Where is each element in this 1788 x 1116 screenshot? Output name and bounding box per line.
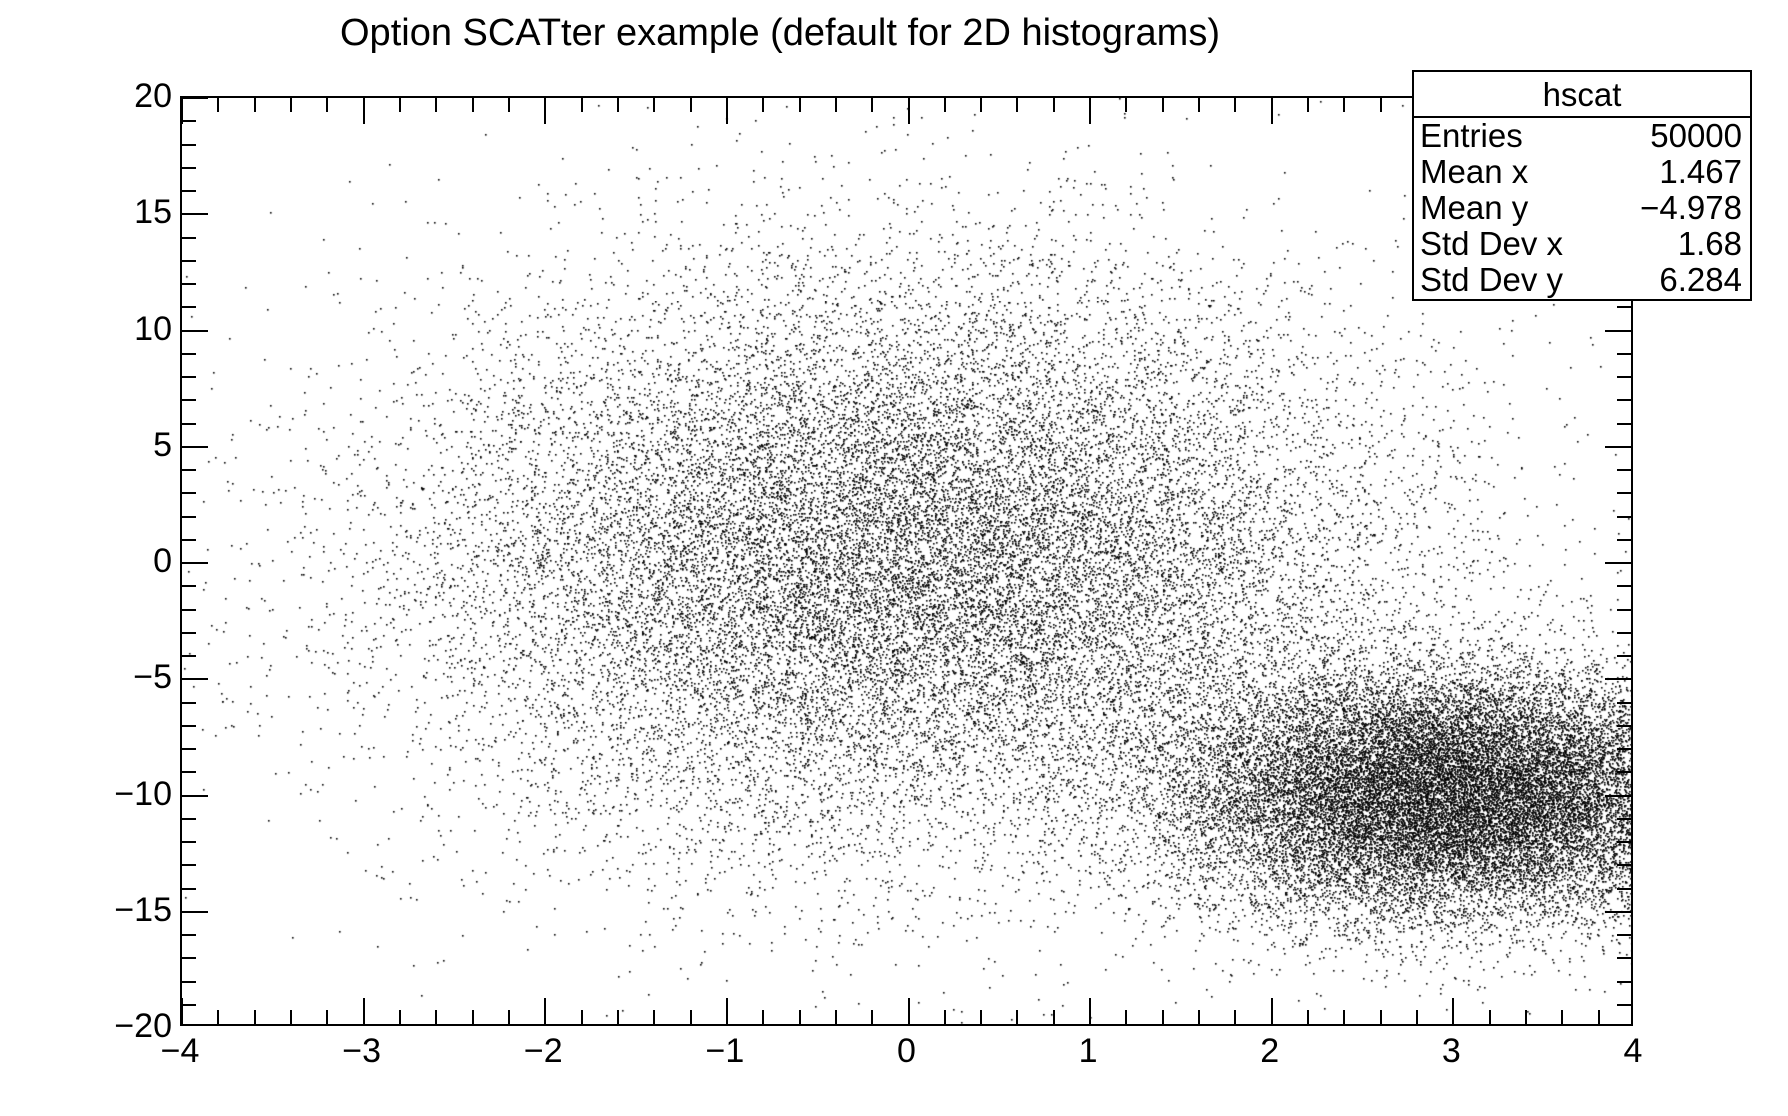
x-axis-minor-tick [290,1010,292,1024]
x-axis-minor-tick [871,1010,873,1024]
statistics-key: Entries [1420,117,1523,155]
x-axis-tick-label: −1 [705,1034,744,1068]
x-axis-minor-tick [472,98,474,112]
y-axis-major-tick [1605,795,1631,797]
y-axis-minor-tick [182,120,196,122]
y-axis-minor-tick [182,934,196,936]
statistics-value: 6.284 [1659,261,1742,299]
statistics-row: Entries50000 [1414,118,1750,154]
y-axis-major-tick [182,97,208,99]
y-axis-minor-tick [182,981,196,983]
y-axis-minor-tick [182,702,196,704]
statistics-value: 1.467 [1659,153,1742,191]
x-axis-minor-tick [690,98,692,112]
statistics-key: Std Dev y [1420,261,1563,299]
y-axis-major-tick [182,678,208,680]
y-axis-minor-tick [1617,585,1631,587]
y-axis-major-tick [182,562,208,564]
x-axis-minor-tick [1561,1010,1563,1024]
statistics-rows: Entries50000Mean x1.467Mean y−4.978Std D… [1414,118,1750,298]
y-axis-minor-tick [182,841,196,843]
x-axis-minor-tick [1162,1010,1164,1024]
y-axis-minor-tick [182,748,196,750]
x-axis-minor-tick [254,1010,256,1024]
x-axis-minor-tick [1125,1010,1127,1024]
x-axis-minor-tick [1125,98,1127,112]
y-axis-minor-tick [182,888,196,890]
y-axis-minor-tick [182,283,196,285]
x-axis-major-tick [1089,998,1091,1024]
y-axis-tick-label: −15 [114,893,172,927]
y-axis-minor-tick [182,260,196,262]
x-axis-minor-tick [1053,1010,1055,1024]
x-axis-minor-tick [1307,98,1309,112]
y-axis-minor-tick [182,585,196,587]
y-axis-minor-tick [182,655,196,657]
x-axis-minor-tick [1380,1010,1382,1024]
y-axis-minor-tick [1617,539,1631,541]
x-axis-major-tick [1271,98,1273,124]
x-axis-minor-tick [581,98,583,112]
y-axis-minor-tick [1617,376,1631,378]
x-axis-minor-tick [1198,98,1200,112]
x-axis-minor-tick [254,98,256,112]
x-axis-major-tick [908,998,910,1024]
x-axis-minor-tick [1343,1010,1345,1024]
y-axis-minor-tick [1617,957,1631,959]
x-axis-major-tick [726,998,728,1024]
y-axis-minor-tick [1617,353,1631,355]
y-axis-minor-tick [1617,399,1631,401]
y-axis-minor-tick [1617,771,1631,773]
x-axis-tick-label: 3 [1442,1034,1461,1068]
x-axis-tick-label: 4 [1624,1034,1643,1068]
y-axis-major-tick [182,213,208,215]
y-axis-minor-tick [182,353,196,355]
y-axis-minor-tick [182,539,196,541]
x-axis-tick-label: 0 [897,1034,916,1068]
y-axis-minor-tick [1617,1004,1631,1006]
statistics-row: Mean y−4.978 [1414,190,1750,226]
x-axis-major-tick [908,98,910,124]
y-axis-minor-tick [182,516,196,518]
y-axis-minor-tick [1617,469,1631,471]
x-axis-minor-tick [1162,98,1164,112]
y-axis-major-tick [1605,911,1631,913]
x-axis-tick-label: 2 [1260,1034,1279,1068]
y-axis-minor-tick [1617,934,1631,936]
x-axis-minor-tick [1016,98,1018,112]
x-axis-major-tick [181,998,183,1024]
y-axis-tick-label: 5 [153,428,172,462]
y-axis-minor-tick [182,469,196,471]
x-axis-minor-tick [435,1010,437,1024]
x-axis-minor-tick [217,1010,219,1024]
x-axis-minor-tick [1380,98,1382,112]
x-axis-major-tick [1271,998,1273,1024]
y-axis-tick-label: 15 [134,195,172,229]
y-axis-minor-tick [1617,725,1631,727]
x-axis-minor-tick [1234,1010,1236,1024]
x-axis-minor-tick [1307,1010,1309,1024]
x-axis-minor-tick [1343,98,1345,112]
y-axis-minor-tick [1617,609,1631,611]
x-axis-minor-tick [508,1010,510,1024]
y-axis-tick-label: −10 [114,777,172,811]
y-axis-minor-tick [1617,864,1631,866]
y-axis-minor-tick [1617,306,1631,308]
x-axis-minor-tick [290,98,292,112]
x-axis-minor-tick [1489,1010,1491,1024]
statistics-value: 50000 [1650,117,1742,155]
x-axis-labels: −4−3−2−101234 [180,1034,1633,1084]
y-axis-tick-label: 20 [134,79,172,113]
x-axis-minor-tick [326,1010,328,1024]
x-axis-minor-tick [508,98,510,112]
x-axis-minor-tick [835,98,837,112]
x-axis-minor-tick [799,98,801,112]
y-axis-minor-tick [182,771,196,773]
y-axis-minor-tick [1617,702,1631,704]
y-axis-minor-tick [1617,423,1631,425]
y-axis-labels: −20−15−10−505101520 [0,96,172,1026]
statistics-key: Mean y [1420,189,1528,227]
y-axis-major-tick [182,795,208,797]
x-axis-minor-tick [435,98,437,112]
x-axis-minor-tick [399,98,401,112]
y-axis-minor-tick [1617,888,1631,890]
x-axis-minor-tick [944,98,946,112]
statistics-key: Mean x [1420,153,1528,191]
x-axis-minor-tick [871,98,873,112]
x-axis-major-tick [363,998,365,1024]
x-axis-major-tick [363,98,365,124]
y-axis-major-tick [182,911,208,913]
x-axis-minor-tick [1416,1010,1418,1024]
statistics-box[interactable]: hscat Entries50000Mean x1.467Mean y−4.97… [1412,70,1752,301]
y-axis-major-tick [1605,678,1631,680]
y-axis-tick-label: 0 [153,544,172,578]
statistics-title: hscat [1414,72,1750,118]
y-axis-minor-tick [182,190,196,192]
x-axis-major-tick [544,998,546,1024]
x-axis-major-tick [544,98,546,124]
y-axis-minor-tick [182,423,196,425]
x-axis-tick-label: −4 [161,1034,200,1068]
x-axis-minor-tick [690,1010,692,1024]
x-axis-minor-tick [1198,1010,1200,1024]
x-axis-tick-label: −3 [342,1034,381,1068]
x-axis-minor-tick [1234,98,1236,112]
y-axis-major-tick [1605,330,1631,332]
y-axis-tick-label: −5 [133,660,172,694]
x-axis-major-tick [726,98,728,124]
root-canvas: Option SCATter example (default for 2D h… [0,0,1788,1116]
x-axis-minor-tick [581,1010,583,1024]
x-axis-minor-tick [944,1010,946,1024]
y-axis-minor-tick [1617,632,1631,634]
x-axis-minor-tick [617,1010,619,1024]
y-axis-minor-tick [1617,516,1631,518]
y-axis-minor-tick [182,957,196,959]
x-axis-minor-tick [762,98,764,112]
x-axis-minor-tick [1525,1010,1527,1024]
x-axis-minor-tick [617,98,619,112]
x-axis-minor-tick [1598,1010,1600,1024]
y-axis-minor-tick [182,864,196,866]
statistics-value: 1.68 [1678,225,1742,263]
y-axis-minor-tick [182,167,196,169]
y-axis-minor-tick [182,399,196,401]
y-axis-minor-tick [182,306,196,308]
y-axis-minor-tick [182,725,196,727]
y-axis-major-tick [1605,562,1631,564]
y-axis-minor-tick [1617,841,1631,843]
y-axis-major-tick [182,330,208,332]
y-axis-minor-tick [182,818,196,820]
x-axis-tick-label: 1 [1079,1034,1098,1068]
y-axis-major-tick [1605,446,1631,448]
y-axis-minor-tick [1617,748,1631,750]
statistics-row: Mean x1.467 [1414,154,1750,190]
y-axis-minor-tick [182,492,196,494]
x-axis-minor-tick [799,1010,801,1024]
y-axis-minor-tick [182,1004,196,1006]
x-axis-minor-tick [980,1010,982,1024]
y-axis-minor-tick [1617,981,1631,983]
x-axis-minor-tick [980,98,982,112]
statistics-row: Std Dev y6.284 [1414,262,1750,298]
x-axis-major-tick [181,98,183,124]
statistics-key: Std Dev x [1420,225,1563,263]
x-axis-major-tick [1452,998,1454,1024]
x-axis-minor-tick [399,1010,401,1024]
y-axis-major-tick [182,446,208,448]
x-axis-minor-tick [472,1010,474,1024]
y-axis-minor-tick [182,144,196,146]
x-axis-minor-tick [835,1010,837,1024]
x-axis-minor-tick [653,1010,655,1024]
y-axis-minor-tick [182,237,196,239]
y-axis-minor-tick [182,376,196,378]
x-axis-minor-tick [217,98,219,112]
y-axis-minor-tick [1617,818,1631,820]
y-axis-tick-label: 10 [134,312,172,346]
page-title: Option SCATter example (default for 2D h… [0,12,1560,55]
x-axis-major-tick [1089,98,1091,124]
statistics-row: Std Dev x1.68 [1414,226,1750,262]
x-axis-minor-tick [1016,1010,1018,1024]
x-axis-minor-tick [762,1010,764,1024]
x-axis-minor-tick [653,98,655,112]
y-axis-minor-tick [1617,655,1631,657]
x-axis-minor-tick [1053,98,1055,112]
statistics-value: −4.978 [1640,189,1742,227]
y-axis-minor-tick [182,609,196,611]
x-axis-tick-label: −2 [524,1034,563,1068]
y-axis-minor-tick [182,632,196,634]
x-axis-minor-tick [326,98,328,112]
y-axis-minor-tick [1617,492,1631,494]
